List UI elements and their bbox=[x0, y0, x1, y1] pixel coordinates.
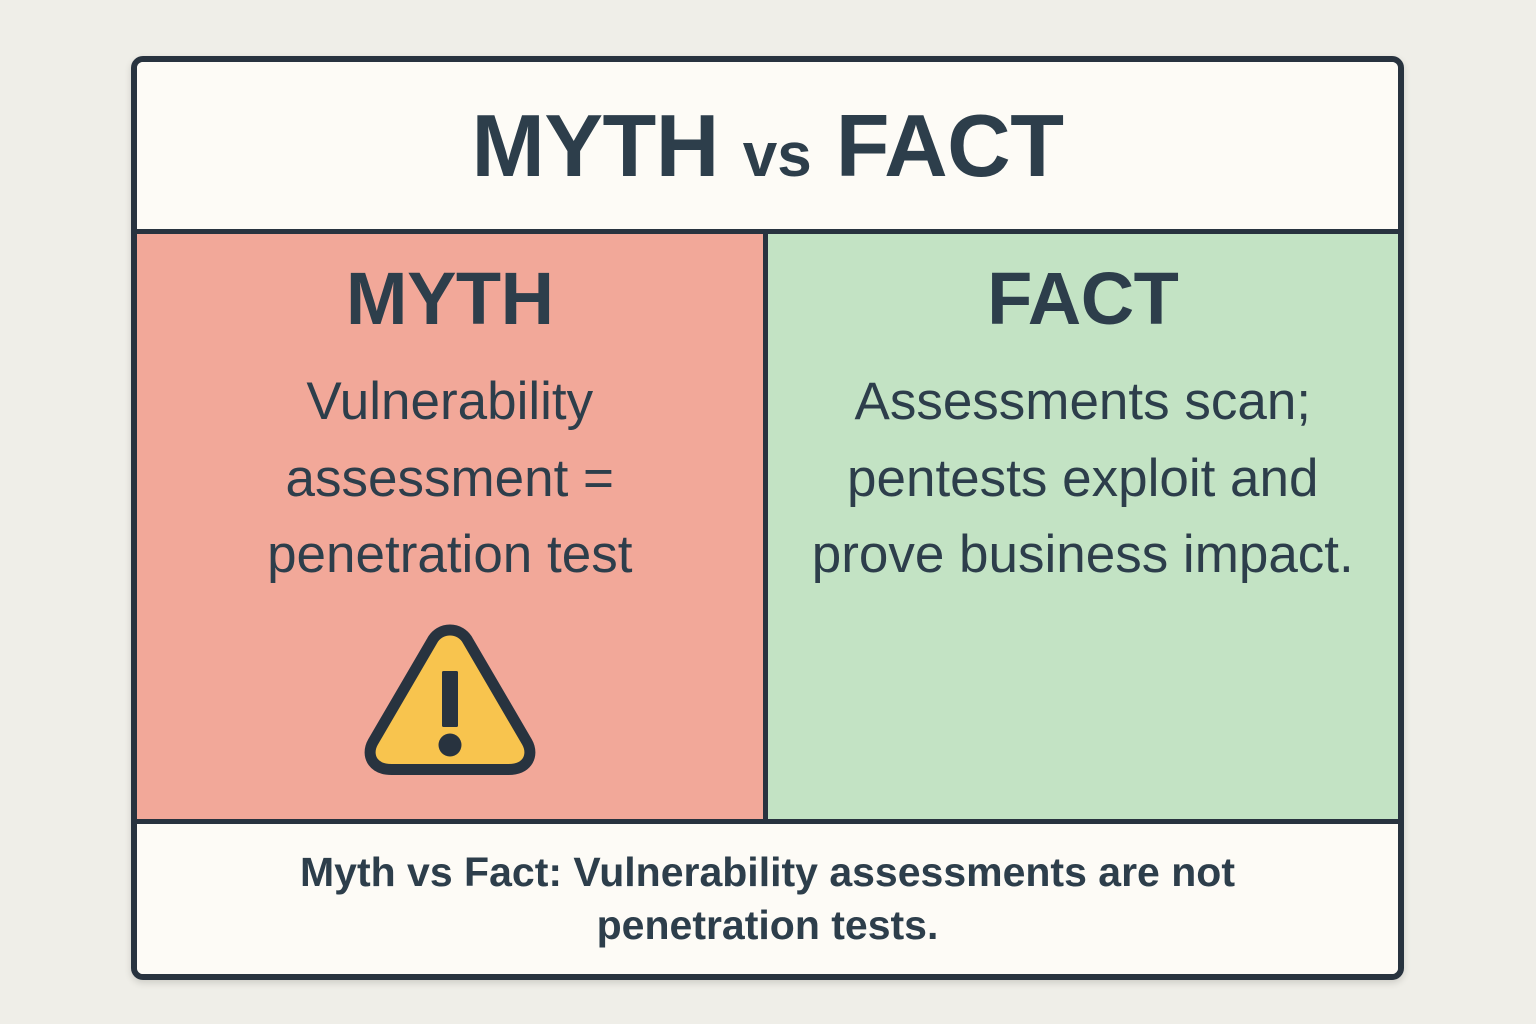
title-band: MYTH vs FACT bbox=[137, 62, 1398, 234]
title-word-fact: FACT bbox=[836, 96, 1064, 195]
panel-myth: MYTH Vulnerability assessment = penetrat… bbox=[137, 234, 768, 819]
panel-myth-heading: MYTH bbox=[346, 260, 554, 338]
title-word-vs: vs bbox=[743, 121, 812, 190]
poster-stage: MYTH vs FACT MYTH Vulnerability assessme… bbox=[0, 0, 1536, 1024]
panel-fact-body: Assessments scan; pentests exploit and p… bbox=[810, 364, 1355, 595]
footer-caption: Myth vs Fact: Vulnerability assessments … bbox=[197, 846, 1338, 953]
myth-vs-fact-card: MYTH vs FACT MYTH Vulnerability assessme… bbox=[131, 56, 1404, 980]
panel-fact: FACT Assessments scan; pentests exploit … bbox=[768, 234, 1399, 819]
comparison-panels: MYTH Vulnerability assessment = penetrat… bbox=[137, 234, 1398, 824]
warning-triangle-icon bbox=[361, 616, 539, 776]
panel-myth-icon-wrap bbox=[155, 616, 745, 776]
page-title: MYTH vs FACT bbox=[472, 102, 1064, 190]
title-word-myth: MYTH bbox=[472, 96, 719, 195]
panel-fact-heading: FACT bbox=[987, 260, 1178, 338]
footer-caption-band: Myth vs Fact: Vulnerability assessments … bbox=[137, 824, 1398, 974]
panel-myth-body: Vulnerability assessment = penetration t… bbox=[200, 364, 700, 595]
